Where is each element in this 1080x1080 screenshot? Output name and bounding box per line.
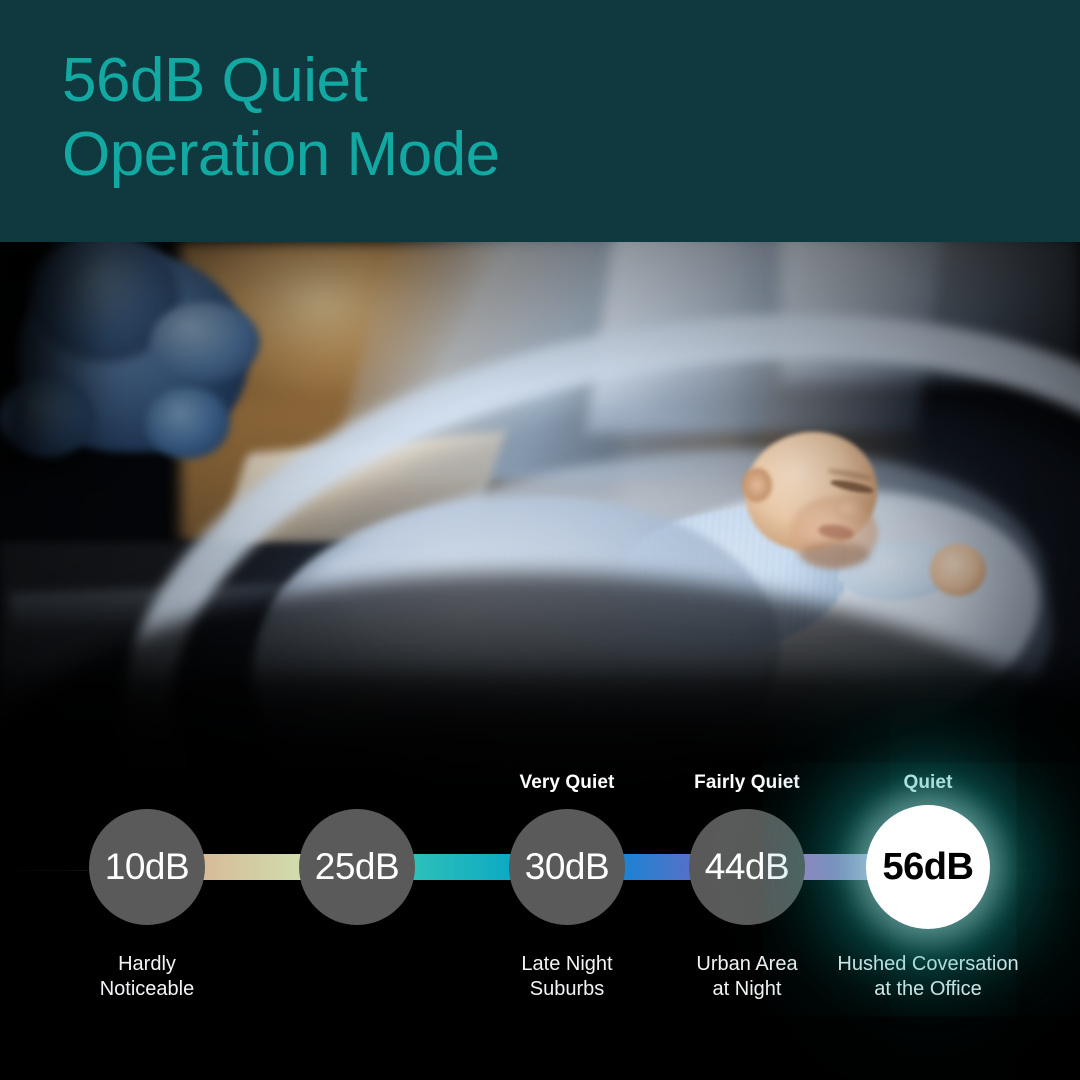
scale-node-top-label: Quiet bbox=[848, 772, 1008, 794]
header-band: 56dB Quiet Operation Mode bbox=[0, 0, 1080, 242]
poster-root: 56dB Quiet Operation Mode 10dB Hardly No… bbox=[0, 0, 1080, 1080]
scale-node-top-label: Very Quiet bbox=[487, 772, 647, 794]
scale-bubble-56db-active[interactable]: 56dB bbox=[866, 805, 990, 929]
scale-node-top-label: Fairly Quiet bbox=[667, 772, 827, 794]
scale-bubble-44db[interactable]: 44dB bbox=[689, 809, 805, 925]
scale-connector-2 bbox=[403, 854, 521, 880]
scale-node-sub-label: Hushed Coversation at the Office bbox=[834, 952, 1022, 1002]
scale-node-sub-label: Urban Area at Night bbox=[653, 952, 841, 1002]
scale-node-sub-label: Late Night Suburbs bbox=[473, 952, 661, 1002]
scale-connector-1 bbox=[193, 854, 311, 880]
scale-node-sub-label: Hardly Noticeable bbox=[53, 952, 241, 1002]
scale-bubble-25db[interactable]: 25dB bbox=[299, 809, 415, 925]
scale-bubble-30db[interactable]: 30dB bbox=[509, 809, 625, 925]
scale-connector-3 bbox=[613, 854, 701, 880]
decibel-scale: 10dB Hardly Noticeable 25dB Very Quiet 3… bbox=[0, 760, 1080, 1080]
scale-bubble-10db[interactable]: 10dB bbox=[89, 809, 205, 925]
page-title: 56dB Quiet Operation Mode bbox=[62, 44, 962, 192]
